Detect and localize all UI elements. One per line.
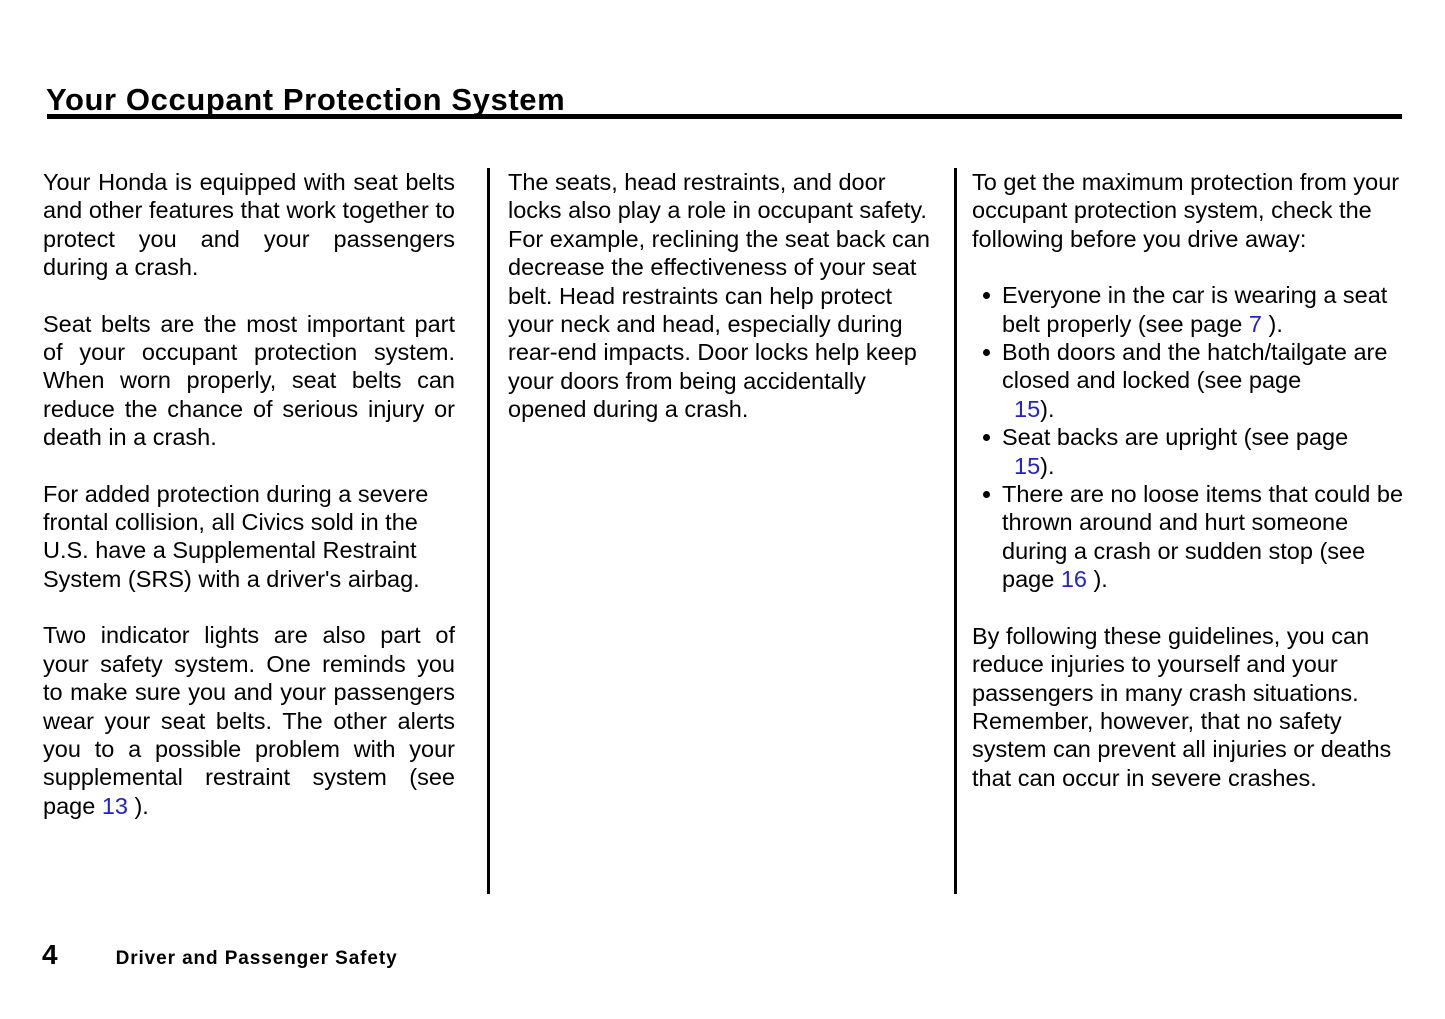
paragraph-maximum-protection-intro: To get the maximum protection from your …: [972, 168, 1404, 253]
column-divider-left: [487, 168, 490, 894]
page-reference-15-seatbacks[interactable]: 15: [1014, 453, 1040, 479]
paragraph-guidelines-closing: By following these guidelines, you can r…: [972, 622, 1404, 792]
text-column-2: The seats, head restraints, and door loc…: [508, 168, 936, 424]
page-reference-13[interactable]: 13: [102, 793, 128, 819]
paragraph-seats-head-restraints-doorlocks: The seats, head restraints, and door loc…: [508, 168, 936, 424]
checklist-item-tail: ).: [1262, 311, 1283, 337]
page-reference-15-doors[interactable]: 15: [1014, 396, 1040, 422]
paragraph-indicator-lights: Two indicator lights are also part of yo…: [43, 621, 455, 820]
column-divider-right: [954, 168, 957, 894]
bullet-dot-icon: [983, 292, 990, 299]
paragraph-seat-belts-important: Seat belts are the most important part o…: [43, 310, 455, 452]
list-item: Both doors and the hatch/tailgate are cl…: [972, 338, 1404, 423]
checklist-item-tail: ).: [1087, 566, 1108, 592]
manual-page: Your Occupant Protection System Your Hon…: [0, 0, 1445, 1019]
paragraph-honda-equipped: Your Honda is equipped with seat belts a…: [43, 168, 455, 282]
paragraph-indicator-lights-text: Two indicator lights are also part of yo…: [43, 622, 455, 818]
checklist-item-tail: ).: [1040, 453, 1054, 479]
list-item: Seat backs are upright (see page 15).: [972, 423, 1404, 480]
bullet-dot-icon: [983, 491, 990, 498]
paragraph-indicator-lights-tail: ).: [128, 793, 149, 819]
page-reference-7[interactable]: 7: [1249, 311, 1262, 337]
text-column-3: To get the maximum protection from your …: [972, 168, 1404, 792]
text-column-1: Your Honda is equipped with seat belts a…: [43, 168, 455, 820]
pre-drive-checklist: Everyone in the car is wearing a seat be…: [972, 281, 1404, 593]
bullet-dot-icon: [983, 349, 990, 356]
list-item: There are no loose items that could be t…: [972, 480, 1404, 594]
checklist-item-text: Both doors and the hatch/tailgate are cl…: [1002, 339, 1387, 393]
title-horizontal-rule: [47, 114, 1402, 119]
page-reference-16[interactable]: 16: [1061, 566, 1087, 592]
footer-page-number: 4: [42, 938, 58, 972]
checklist-item-wrapped-reference: 15).: [1002, 452, 1404, 480]
paragraph-srs-airbag: For added protection during a severe fro…: [43, 480, 455, 594]
list-item: Everyone in the car is wearing a seat be…: [972, 281, 1404, 338]
checklist-item-wrapped-reference: 15).: [1002, 395, 1404, 423]
footer-section-name: Driver and Passenger Safety: [116, 942, 398, 976]
checklist-item-tail: ).: [1040, 396, 1054, 422]
bullet-dot-icon: [983, 434, 990, 441]
checklist-item-text: Seat backs are upright (see page: [1002, 424, 1348, 450]
page-footer: 4 Driver and Passenger Safety: [42, 938, 398, 976]
checklist-item-text: Everyone in the car is wearing a seat be…: [1002, 282, 1387, 336]
